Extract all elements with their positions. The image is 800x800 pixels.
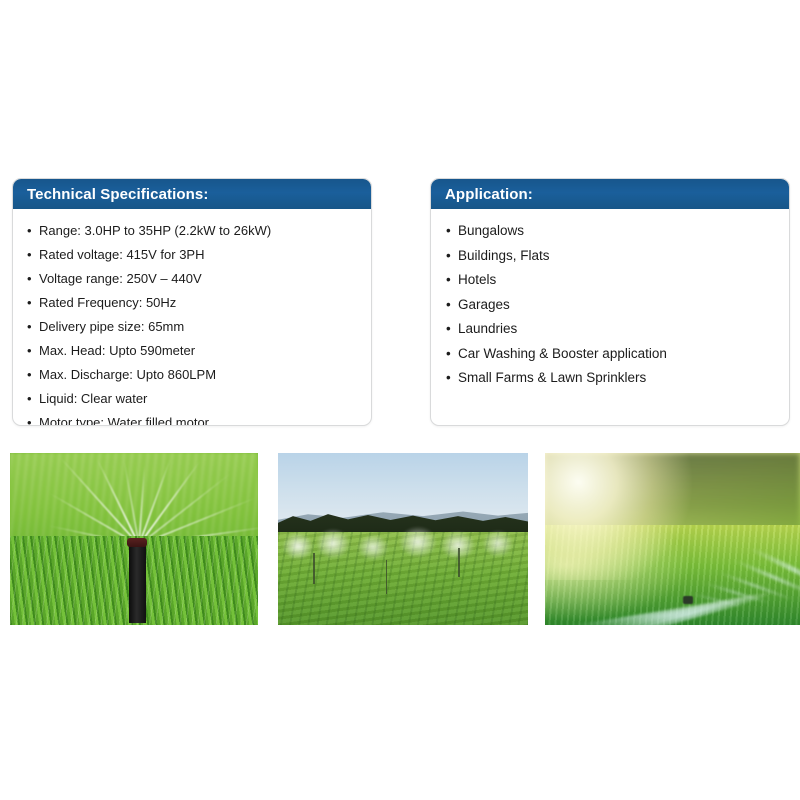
list-item: Motor type: Water filled motor xyxy=(25,411,361,426)
application-card-title: Application: xyxy=(445,187,533,202)
water-jet xyxy=(59,457,139,546)
application-card-body: Bungalows Buildings, Flats Hotels Garage… xyxy=(431,209,789,399)
farm-irrigation-scene xyxy=(278,453,528,625)
specs-card-body: Range: 3.0HP to 35HP (2.2kW to 26kW) Rat… xyxy=(13,209,371,426)
sun-flare xyxy=(545,453,698,580)
application-card-header: Application: xyxy=(431,179,789,209)
list-item: Bungalows xyxy=(443,219,779,244)
list-item: Buildings, Flats xyxy=(443,244,779,269)
list-item: Rated Frequency: 50Hz xyxy=(25,291,361,315)
lawn-sprinkler-scene xyxy=(10,453,258,625)
technical-specifications-card: Technical Specifications: Range: 3.0HP t… xyxy=(12,178,372,426)
list-item: Max. Head: Upto 590meter xyxy=(25,339,361,363)
application-list: Bungalows Buildings, Flats Hotels Garage… xyxy=(443,219,779,391)
sprinkler-mist xyxy=(278,515,528,567)
sprinkler-head-nozzle xyxy=(127,538,147,547)
sprinkler-nozzle xyxy=(683,596,693,604)
list-item: Hotels xyxy=(443,268,779,293)
list-item: Max. Discharge: Upto 860LPM xyxy=(25,363,361,387)
sprinkler-head-body xyxy=(129,541,146,624)
list-item: Garages xyxy=(443,293,779,318)
photo-farm-field-irrigation xyxy=(278,453,528,625)
list-item: Range: 3.0HP to 35HP (2.2kW to 26kW) xyxy=(25,219,361,243)
sunlit-sprinkler-scene xyxy=(545,453,800,625)
list-item: Delivery pipe size: 65mm xyxy=(25,315,361,339)
list-item: Rated voltage: 415V for 3PH xyxy=(25,243,361,267)
specs-card-title: Technical Specifications: xyxy=(27,187,208,202)
list-item: Laundries xyxy=(443,317,779,342)
sprinkler-riser xyxy=(458,548,460,577)
photo-lawn-sprinkler-closeup xyxy=(10,453,258,625)
specifications-list: Range: 3.0HP to 35HP (2.2kW to 26kW) Rat… xyxy=(25,219,361,426)
sprinkler-riser xyxy=(313,553,315,584)
list-item: Small Farms & Lawn Sprinklers xyxy=(443,366,779,391)
list-item: Liquid: Clear water xyxy=(25,387,361,411)
list-item: Car Washing & Booster application xyxy=(443,342,779,367)
sprinkler-riser xyxy=(386,560,388,594)
application-card: Application: Bungalows Buildings, Flats … xyxy=(430,178,790,426)
list-item: Voltage range: 250V – 440V xyxy=(25,267,361,291)
photo-sunlit-lawn-sprinkler xyxy=(545,453,800,625)
product-spec-page: Technical Specifications: Range: 3.0HP t… xyxy=(0,0,800,800)
specs-card-header: Technical Specifications: xyxy=(13,179,371,209)
